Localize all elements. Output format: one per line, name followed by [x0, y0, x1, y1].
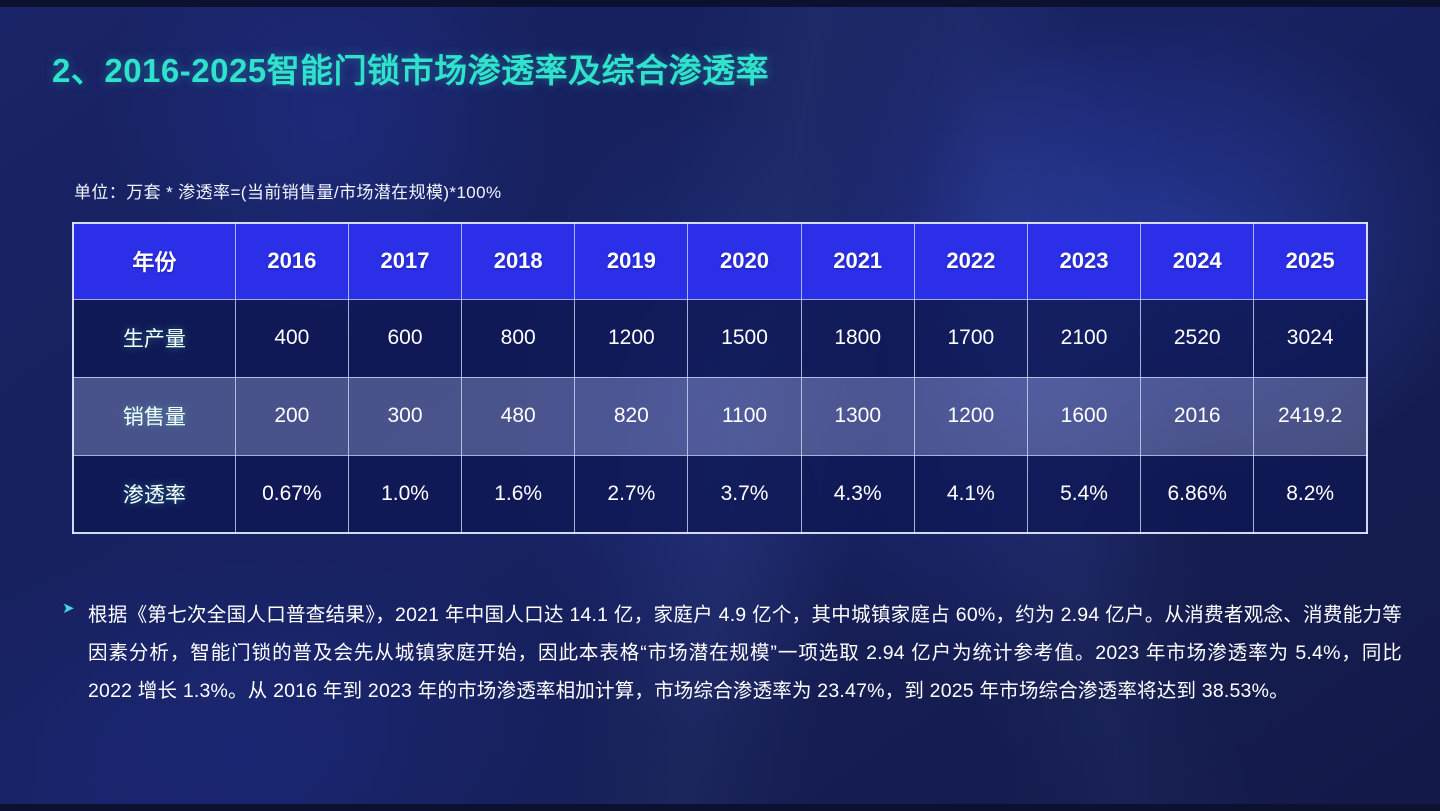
table-header-year-2022: 2022 [914, 223, 1027, 299]
table-cell: 1.0% [348, 455, 461, 533]
table-head: 年份20162017201820192020202120222023202420… [73, 223, 1367, 299]
table-cell: 1200 [914, 377, 1027, 455]
table-header-year-2025: 2025 [1254, 223, 1367, 299]
table-header-year-2024: 2024 [1141, 223, 1254, 299]
table-cell: 1500 [688, 299, 801, 377]
table-cell: 800 [462, 299, 575, 377]
table-cell: 1300 [801, 377, 914, 455]
table-cell: 1600 [1027, 377, 1140, 455]
page-title: 2、2016-2025智能门锁市场渗透率及综合渗透率 [52, 44, 769, 92]
table-cell: 1800 [801, 299, 914, 377]
table-cell: 6.86% [1141, 455, 1254, 533]
table-header-year-2021: 2021 [801, 223, 914, 299]
table-cell: 0.67% [235, 455, 348, 533]
bullet-arrow-icon: ➤ [62, 596, 88, 616]
slide-content: 2、2016-2025智能门锁市场渗透率及综合渗透率 单位：万套 * 渗透率=(… [0, 0, 1440, 811]
table-cell: 3.7% [688, 455, 801, 533]
top-edge-bar [0, 0, 1440, 7]
table-header-year-2020: 2020 [688, 223, 801, 299]
table-header-year-2019: 2019 [575, 223, 688, 299]
footnote-text: 根据《第七次全国人口普查结果》，2021 年中国人口达 14.1 亿，家庭户 4… [88, 596, 1402, 710]
table-cell: 4.1% [914, 455, 1027, 533]
table-cell: 8.2% [1254, 455, 1367, 533]
table-body: 生产量4006008001200150018001700210025203024… [73, 299, 1367, 533]
table-row-label: 销售量 [73, 377, 235, 455]
table-cell: 2.7% [575, 455, 688, 533]
table-cell: 2520 [1141, 299, 1254, 377]
bottom-edge-bar [0, 804, 1440, 811]
table-header-year-2016: 2016 [235, 223, 348, 299]
table-row-label: 生产量 [73, 299, 235, 377]
table-header-year-2023: 2023 [1027, 223, 1140, 299]
table-cell: 300 [348, 377, 461, 455]
table-row: 销售量200300480820110013001200160020162419.… [73, 377, 1367, 455]
table-cell: 600 [348, 299, 461, 377]
penetration-rate-table: 年份20162017201820192020202120222023202420… [72, 222, 1368, 534]
table-header-row-label: 年份 [73, 223, 235, 299]
table-cell: 820 [575, 377, 688, 455]
table-cell: 4.3% [801, 455, 914, 533]
table-row: 生产量4006008001200150018001700210025203024 [73, 299, 1367, 377]
table-cell: 3024 [1254, 299, 1367, 377]
table-header-year-2017: 2017 [348, 223, 461, 299]
table-cell: 200 [235, 377, 348, 455]
table-header-row: 年份20162017201820192020202120222023202420… [73, 223, 1367, 299]
table-row-label: 渗透率 [73, 455, 235, 533]
table-cell: 480 [462, 377, 575, 455]
table-cell: 2419.2 [1254, 377, 1367, 455]
table-cell: 1100 [688, 377, 801, 455]
table-cell: 1700 [914, 299, 1027, 377]
table-cell: 1.6% [462, 455, 575, 533]
footnote: ➤ 根据《第七次全国人口普查结果》，2021 年中国人口达 14.1 亿，家庭户… [62, 596, 1402, 710]
table-row: 渗透率0.67%1.0%1.6%2.7%3.7%4.3%4.1%5.4%6.86… [73, 455, 1367, 533]
unit-note: 单位：万套 * 渗透率=(当前销售量/市场潜在规模)*100% [74, 178, 502, 203]
table-cell: 2100 [1027, 299, 1140, 377]
table-header-year-2018: 2018 [462, 223, 575, 299]
table: 年份20162017201820192020202120222023202420… [72, 222, 1368, 534]
table-cell: 400 [235, 299, 348, 377]
table-cell: 5.4% [1027, 455, 1140, 533]
table-cell: 1200 [575, 299, 688, 377]
table-cell: 2016 [1141, 377, 1254, 455]
